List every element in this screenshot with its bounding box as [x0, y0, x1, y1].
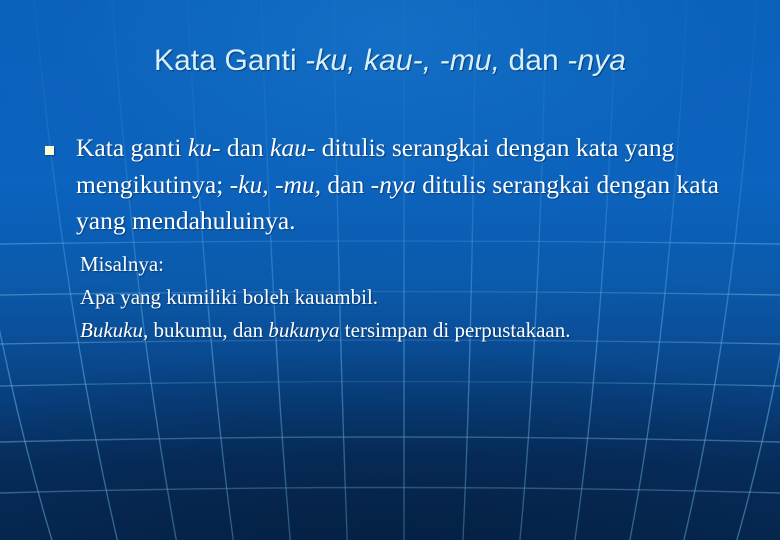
- example-1-run-0: Apa yang kumiliki boleh kauambil.: [80, 285, 378, 309]
- title-run-1: -ku, kau-, -mu,: [305, 44, 500, 77]
- slide-body: Kata ganti ku- dan kau- ditulis serangka…: [38, 130, 744, 347]
- bullet-run-1: ku-: [188, 133, 221, 162]
- bullet-run-3: kau-: [270, 133, 315, 162]
- example-2-run-3: tersimpan di perpustakaan.: [340, 318, 571, 342]
- slide-canvas: Kata Ganti -ku, kau-, -mu, dan -nya Kata…: [0, 0, 780, 540]
- title-run-0: Kata Ganti: [154, 44, 305, 77]
- example-2-run-2: bukunya: [268, 318, 339, 342]
- title-run-3: -nya: [567, 44, 626, 77]
- square-bullet-icon: [45, 146, 54, 155]
- example-2-run-1: bukumu, dan: [148, 318, 268, 342]
- bullet-run-5: -ku, -mu,: [230, 170, 321, 199]
- list-item: Kata ganti ku- dan kau- ditulis serangka…: [38, 130, 744, 240]
- bullet-run-7: -nya: [371, 170, 416, 199]
- title-run-2: dan: [500, 44, 567, 77]
- slide-title: Kata Ganti -ku, kau-, -mu, dan -nya: [0, 42, 780, 80]
- example-block: Misalnya: Apa yang kumiliki boleh kauamb…: [38, 248, 744, 347]
- bullet-run-0: Kata ganti: [76, 133, 188, 162]
- bullet-run-2: dan: [220, 133, 270, 162]
- example-0-run-0: Misalnya:: [80, 252, 164, 276]
- example-line-2: Bukuku, bukumu, dan bukunya tersimpan di…: [80, 314, 744, 347]
- example-2-run-0: Bukuku,: [80, 318, 148, 342]
- example-line-1: Apa yang kumiliki boleh kauambil.: [80, 281, 744, 314]
- bullet-paragraph: Kata ganti ku- dan kau- ditulis serangka…: [76, 130, 744, 240]
- bullet-run-6: dan: [321, 170, 371, 199]
- example-line-intro: Misalnya:: [80, 248, 744, 281]
